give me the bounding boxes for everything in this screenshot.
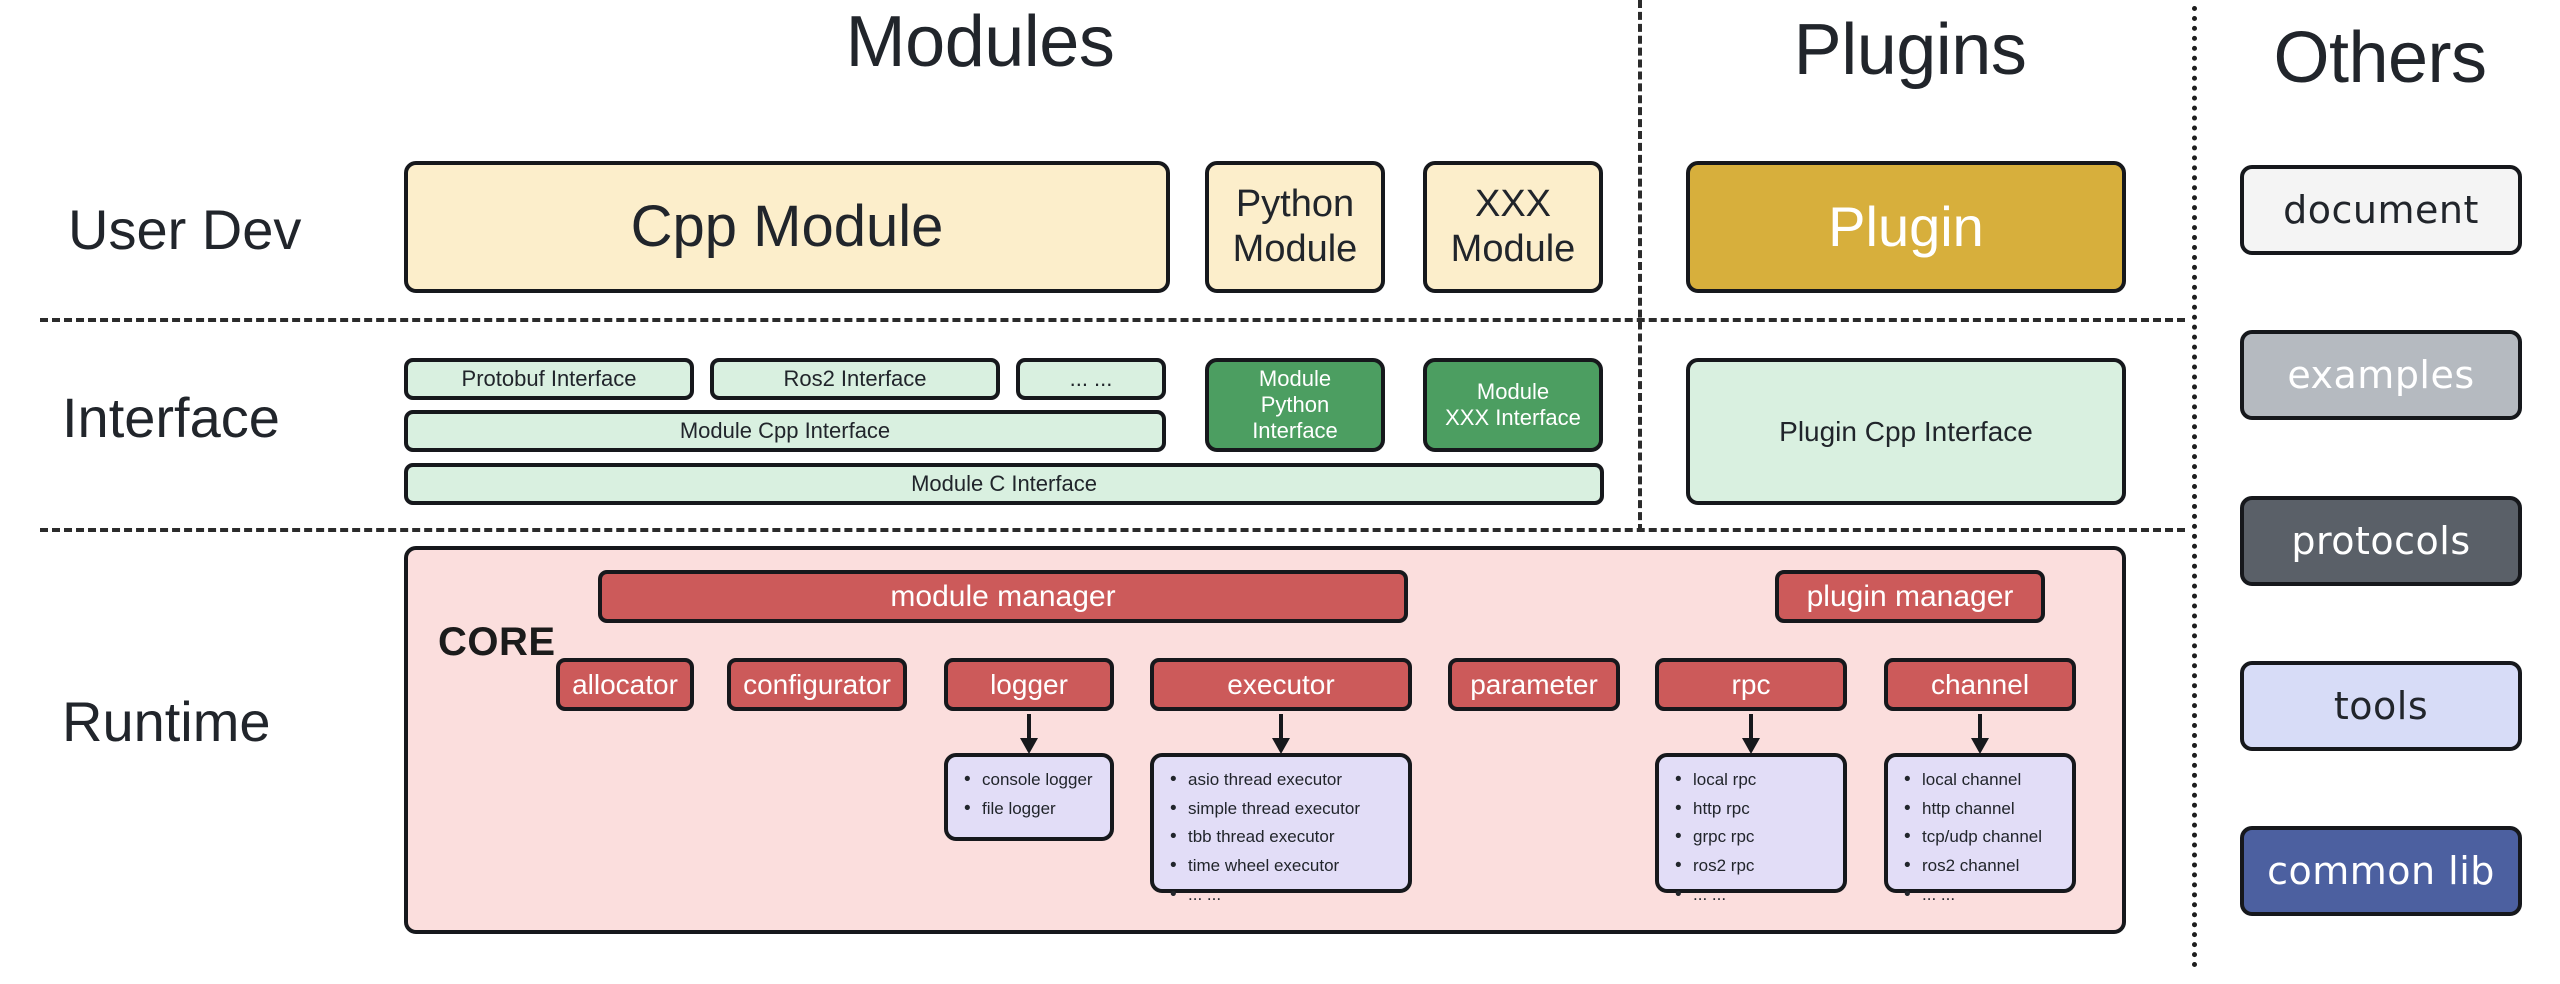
divider-plugins-others — [2192, 6, 2197, 968]
arrow-channel-to-details — [1964, 712, 1996, 756]
node-plugin-manager[interactable]: plugin manager — [1775, 570, 2045, 623]
detail-list-item: tbb thread executor — [1188, 828, 1398, 847]
arrow-rpc-to-details — [1735, 712, 1767, 756]
detail-list-executor: asio thread executorsimple thread execut… — [1168, 771, 1398, 904]
node-component-parameter[interactable]: parameter — [1448, 658, 1620, 711]
detail-list-item: http rpc — [1693, 800, 1833, 819]
node-cpp-module[interactable]: Cpp Module — [404, 161, 1170, 293]
node-plugin[interactable]: Plugin — [1686, 161, 2126, 293]
node-component-executor[interactable]: executor — [1150, 658, 1412, 711]
detail-box-channel: local channelhttp channeltcp/udp channel… — [1884, 753, 2076, 893]
node-module-xxx-interface[interactable]: Module XXX Interface — [1423, 358, 1603, 452]
node-module-python-interface[interactable]: Module Python Interface — [1205, 358, 1385, 452]
divider-userdev-interface — [40, 318, 2185, 322]
divider-interface-runtime — [40, 528, 2185, 532]
others-item-common-lib[interactable]: common lib — [2240, 826, 2522, 916]
detail-list-item: simple thread executor — [1188, 800, 1398, 819]
detail-box-executor: asio thread executorsimple thread execut… — [1150, 753, 1412, 893]
node-xxx-module[interactable]: XXX Module — [1423, 161, 1603, 293]
divider-modules-plugins — [1638, 0, 1642, 532]
node-interface-ellipsis[interactable]: ... ... — [1016, 358, 1166, 400]
row-label-runtime: Runtime — [62, 694, 271, 750]
detail-list-channel: local channelhttp channeltcp/udp channel… — [1902, 771, 2062, 904]
node-component-channel[interactable]: channel — [1884, 658, 2076, 711]
row-label-interface: Interface — [62, 390, 280, 446]
detail-box-rpc: local rpchttp rpcgrpc rpcros2 rpc... ... — [1655, 753, 1847, 893]
detail-list-item: ... ... — [1188, 886, 1398, 905]
detail-list-item: file logger — [982, 800, 1100, 819]
detail-list-item: ros2 rpc — [1693, 857, 1833, 876]
detail-list-item: local channel — [1922, 771, 2062, 790]
node-python-module[interactable]: Python Module — [1205, 161, 1385, 293]
column-header-plugins: Plugins — [1700, 14, 2120, 86]
others-item-document[interactable]: document — [2240, 165, 2522, 255]
detail-list-item: grpc rpc — [1693, 828, 1833, 847]
row-label-user-dev: User Dev — [68, 202, 301, 258]
others-item-protocols[interactable]: protocols — [2240, 496, 2522, 586]
column-header-others: Others — [2215, 22, 2545, 94]
detail-list-item: asio thread executor — [1188, 771, 1398, 790]
column-header-modules: Modules — [700, 6, 1260, 78]
detail-list-item: ros2 channel — [1922, 857, 2062, 876]
detail-list-item: http channel — [1922, 800, 2062, 819]
detail-list-item: ... ... — [1693, 886, 1833, 905]
others-item-examples[interactable]: examples — [2240, 330, 2522, 420]
node-component-allocator[interactable]: allocator — [556, 658, 694, 711]
detail-list-item: time wheel executor — [1188, 857, 1398, 876]
node-module-cpp-interface[interactable]: Module Cpp Interface — [404, 410, 1166, 452]
node-plugin-cpp-interface[interactable]: Plugin Cpp Interface — [1686, 358, 2126, 505]
detail-box-logger: console loggerfile logger — [944, 753, 1114, 841]
detail-list-rpc: local rpchttp rpcgrpc rpcros2 rpc... ... — [1673, 771, 1833, 904]
architecture-diagram: Modules Plugins Others User Dev Interfac… — [0, 0, 2560, 984]
node-module-manager[interactable]: module manager — [598, 570, 1408, 623]
detail-list-item: console logger — [982, 771, 1100, 790]
node-component-logger[interactable]: logger — [944, 658, 1114, 711]
node-component-rpc[interactable]: rpc — [1655, 658, 1847, 711]
node-protobuf-interface[interactable]: Protobuf Interface — [404, 358, 694, 400]
arrow-logger-to-details — [1013, 712, 1045, 756]
node-module-c-interface[interactable]: Module C Interface — [404, 463, 1604, 505]
detail-list-item: tcp/udp channel — [1922, 828, 2062, 847]
others-item-tools[interactable]: tools — [2240, 661, 2522, 751]
detail-list-logger: console loggerfile logger — [962, 771, 1100, 818]
arrow-executor-to-details — [1265, 712, 1297, 756]
node-ros2-interface[interactable]: Ros2 Interface — [710, 358, 1000, 400]
node-component-configurator[interactable]: configurator — [727, 658, 907, 711]
detail-list-item: ... ... — [1922, 886, 2062, 905]
detail-list-item: local rpc — [1693, 771, 1833, 790]
